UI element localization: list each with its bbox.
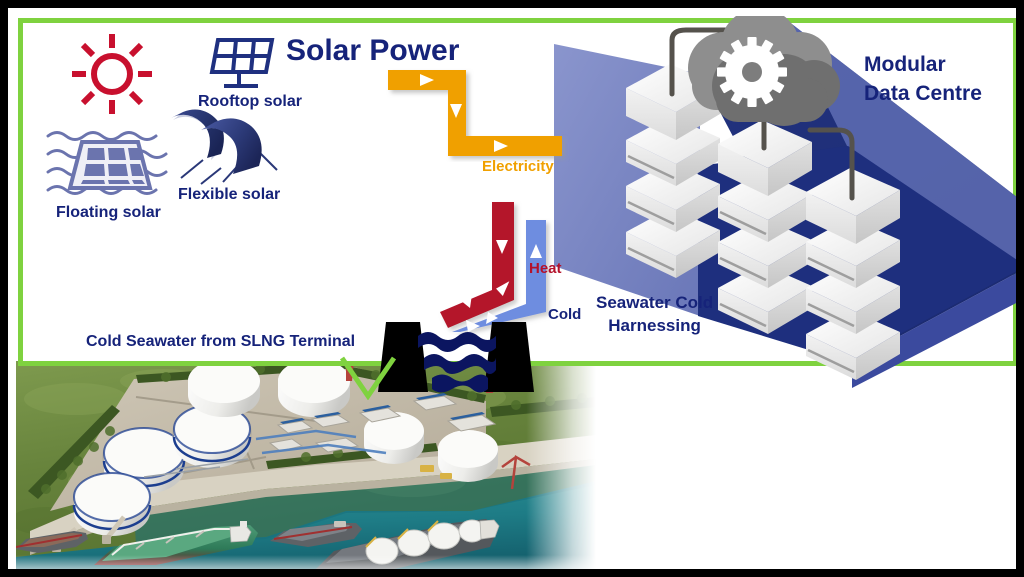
cold-label: Cold <box>548 306 581 323</box>
mdc-label-line-2: Data Centre <box>864 79 982 108</box>
slng-label-leader-pointer <box>338 354 398 400</box>
floating-solar-label: Floating solar <box>56 204 161 222</box>
solar-power-title: Solar Power <box>286 34 459 68</box>
electricity-label: Electricity <box>482 158 554 175</box>
seawater-label-line-1: Seawater Cold <box>596 292 713 315</box>
flexible-solar-icon <box>151 108 279 190</box>
electricity-arrow-svg <box>386 66 576 162</box>
photo-bottom-fade <box>16 555 596 569</box>
slng-pointer-svg <box>338 354 398 400</box>
cloud-gear-icon <box>672 16 852 144</box>
flexible-solar-label: Flexible solar <box>178 186 280 204</box>
rooftop-solar-label: Rooftop solar <box>198 93 302 111</box>
electricity-flow-arrow <box>386 66 576 162</box>
white-canvas: Solar Power Rooftop solar Floating solar… <box>8 8 1016 569</box>
seawater-cold-harnessing-label: Seawater Cold Harnessing <box>596 292 713 338</box>
cooling-tower-svg <box>376 314 536 394</box>
seawater-label-line-2: Harnessing <box>596 315 713 338</box>
sun-icon <box>70 32 154 116</box>
flexible-solar-svg <box>151 108 279 190</box>
diagram-canvas: Solar Power Rooftop solar Floating solar… <box>0 0 1024 577</box>
cloud-gear-svg <box>672 16 852 144</box>
sun-svg <box>70 32 154 116</box>
floating-solar-svg <box>46 120 168 204</box>
heat-label: Heat <box>529 260 562 277</box>
rooftop-solar-svg <box>208 34 280 94</box>
slng-terminal-caption: Cold Seawater from SLNG Terminal <box>86 333 355 351</box>
modular-data-centre-label: Modular Data Centre <box>864 50 982 109</box>
rooftop-solar-icon <box>208 34 280 94</box>
mdc-label-line-1: Modular <box>864 50 982 79</box>
floating-solar-icon <box>46 120 168 204</box>
seawater-cooling-tower-icon <box>376 314 536 394</box>
